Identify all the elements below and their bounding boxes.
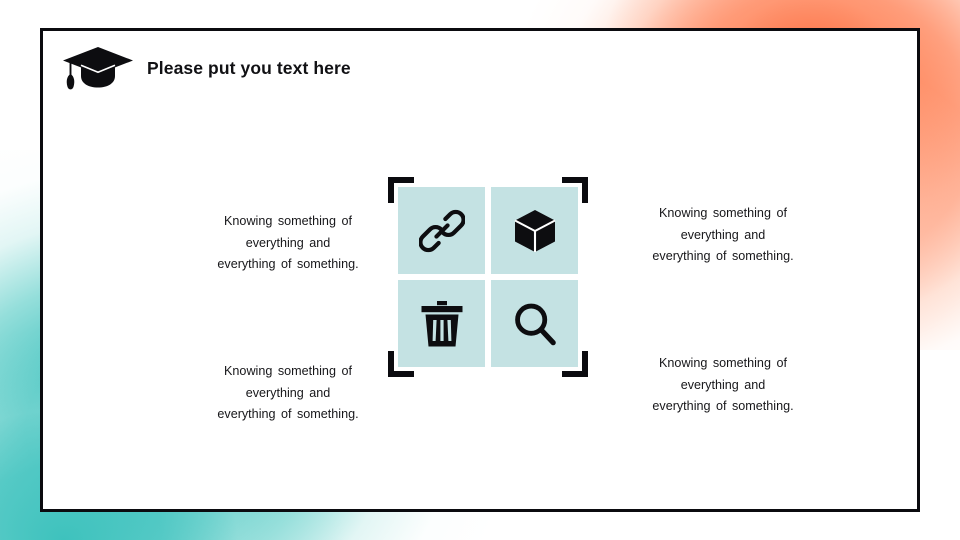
text-block-top-right: Knowing something of everything and ever… — [623, 203, 823, 268]
slide-header: Please put you text here — [61, 45, 351, 91]
text-line: Knowing something of — [188, 361, 388, 383]
text-block-bottom-right: Knowing something of everything and ever… — [623, 353, 823, 418]
text-line: everything and — [623, 225, 823, 247]
link-icon — [419, 208, 465, 254]
trash-icon — [420, 300, 464, 348]
text-line: Knowing something of — [623, 353, 823, 375]
page-title: Please put you text here — [147, 58, 351, 79]
text-block-bottom-left: Knowing something of everything and ever… — [188, 361, 388, 426]
text-line: everything and — [188, 383, 388, 405]
text-line: everything of something. — [623, 246, 823, 268]
corner-bracket-bottom-left — [388, 351, 414, 377]
text-line: everything and — [623, 375, 823, 397]
text-line: everything of something. — [188, 254, 388, 276]
text-line: Knowing something of — [623, 203, 823, 225]
icon-grid — [398, 187, 578, 367]
cube-icon — [513, 208, 557, 254]
text-line: everything of something. — [188, 404, 388, 426]
corner-bracket-top-right — [562, 177, 588, 203]
slide-canvas: Please put you text here — [0, 0, 960, 540]
corner-bracket-top-left — [388, 177, 414, 203]
magnifier-icon — [512, 301, 558, 347]
text-line: everything of something. — [623, 396, 823, 418]
graduation-cap-icon — [61, 45, 135, 91]
text-line: Knowing something of — [188, 211, 388, 233]
text-line: everything and — [188, 233, 388, 255]
text-block-top-left: Knowing something of everything and ever… — [188, 211, 388, 276]
corner-bracket-bottom-right — [562, 351, 588, 377]
slide-frame-panel: Please put you text here — [40, 28, 920, 512]
icon-grid-container — [398, 187, 578, 367]
